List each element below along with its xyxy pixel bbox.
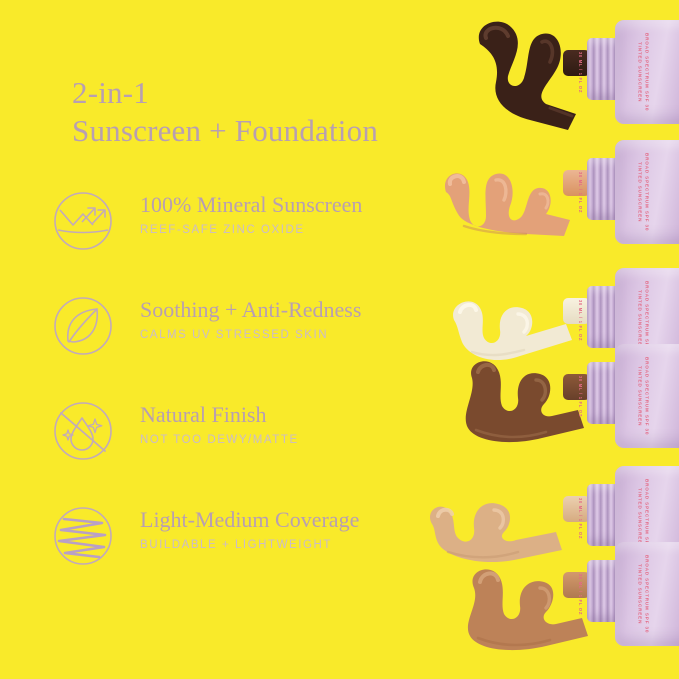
no-droplet-sparkle-icon [52,400,114,462]
tube-description: BROAD SPECTRUM SPF 30 TINTED SUNSCREEN [637,357,651,435]
coverage-scribble-icon [52,505,114,567]
headline-line-1: 2-in-1 [72,76,502,111]
tube-description-line-1: BROAD SPECTRUM SPF 30 [644,357,651,435]
feature-list: 100% Mineral Sunscreen REEF-SAFE ZINC OX… [48,188,478,608]
product-tube: 30 ML / 1 FL OZ BROAD SPECTRUM SPF 30 TI… [440,528,679,678]
tube-description-line-2: TINTED SUNSCREEN [637,33,644,111]
feature-subtitle: CALMS UV STRESSED SKIN [140,329,480,341]
feature-subtitle: REEF-SAFE ZINC OXIDE [140,224,480,236]
tube-description: BROAD SPECTRUM SPF 30 TINTED SUNSCREEN [637,153,651,231]
tube-graphic: 30 ML / 1 FL OZ BROAD SPECTRUM SPF 30 TI… [583,344,679,448]
tube-description: BROAD SPECTRUM SPF 30 TINTED SUNSCREEN [637,555,651,633]
tube-label: 30 ML / 1 FL OZ BROAD SPECTRUM SPF 30 TI… [615,344,679,448]
feature-item: 100% Mineral Sunscreen REEF-SAFE ZINC OX… [48,188,478,293]
tube-description-line-2: TINTED SUNSCREEN [637,555,644,633]
feature-title: Soothing + Anti-Redness [140,297,480,322]
tube-graphic: 30 ML / 1 FL OZ BROAD SPECTRUM SPF 30 TI… [583,20,679,124]
feature-item: Natural Finish NOT TOO DEWY/MATTE [48,398,478,503]
product-feature-graphic: 2-in-1 Sunscreen + Foundation 100% Miner… [0,0,679,679]
feature-text: 100% Mineral Sunscreen REEF-SAFE ZINC OX… [140,192,480,236]
uv-reflection-icon [52,190,114,252]
feature-title: Natural Finish [140,402,480,427]
tube-description-line-1: BROAD SPECTRUM SPF 30 [644,33,651,111]
tube-label: 30 ML / 1 FL OZ BROAD SPECTRUM SPF 30 TI… [615,140,679,244]
tube-size: 30 ML / 1 FL OZ [578,51,583,92]
tube-size: 30 ML / 1 FL OZ [578,171,583,212]
tube-label: 30 ML / 1 FL OZ BROAD SPECTRUM SPF 30 TI… [615,542,679,646]
tube-description-line-2: TINTED SUNSCREEN [637,153,644,231]
product-column: 30 ML / 1 FL OZ BROAD SPECTRUM SPF 30 TI… [440,0,679,679]
feature-text: Natural Finish NOT TOO DEWY/MATTE [140,402,480,446]
tube-description-line-1: BROAD SPECTRUM SPF 30 [644,153,651,231]
feature-subtitle: NOT TOO DEWY/MATTE [140,434,480,446]
feature-item: Light-Medium Coverage BUILDABLE + LIGHTW… [48,503,478,608]
leaf-icon [52,295,114,357]
tube-size: 30 ML / 1 FL OZ [578,573,583,614]
tube-description: BROAD SPECTRUM SPF 30 TINTED SUNSCREEN [637,33,651,111]
feature-title: 100% Mineral Sunscreen [140,192,480,217]
tube-description-line-2: TINTED SUNSCREEN [637,357,644,435]
feature-item: Soothing + Anti-Redness CALMS UV STRESSE… [48,293,478,398]
tube-label: 30 ML / 1 FL OZ BROAD SPECTRUM SPF 30 TI… [615,20,679,124]
feature-text: Soothing + Anti-Redness CALMS UV STRESSE… [140,297,480,341]
tube-size: 30 ML / 1 FL OZ [578,375,583,416]
tube-description-line-1: BROAD SPECTRUM SPF 30 [644,555,651,633]
tube-graphic: 30 ML / 1 FL OZ BROAD SPECTRUM SPF 30 TI… [583,140,679,244]
tube-graphic: 30 ML / 1 FL OZ BROAD SPECTRUM SPF 30 TI… [583,542,679,646]
